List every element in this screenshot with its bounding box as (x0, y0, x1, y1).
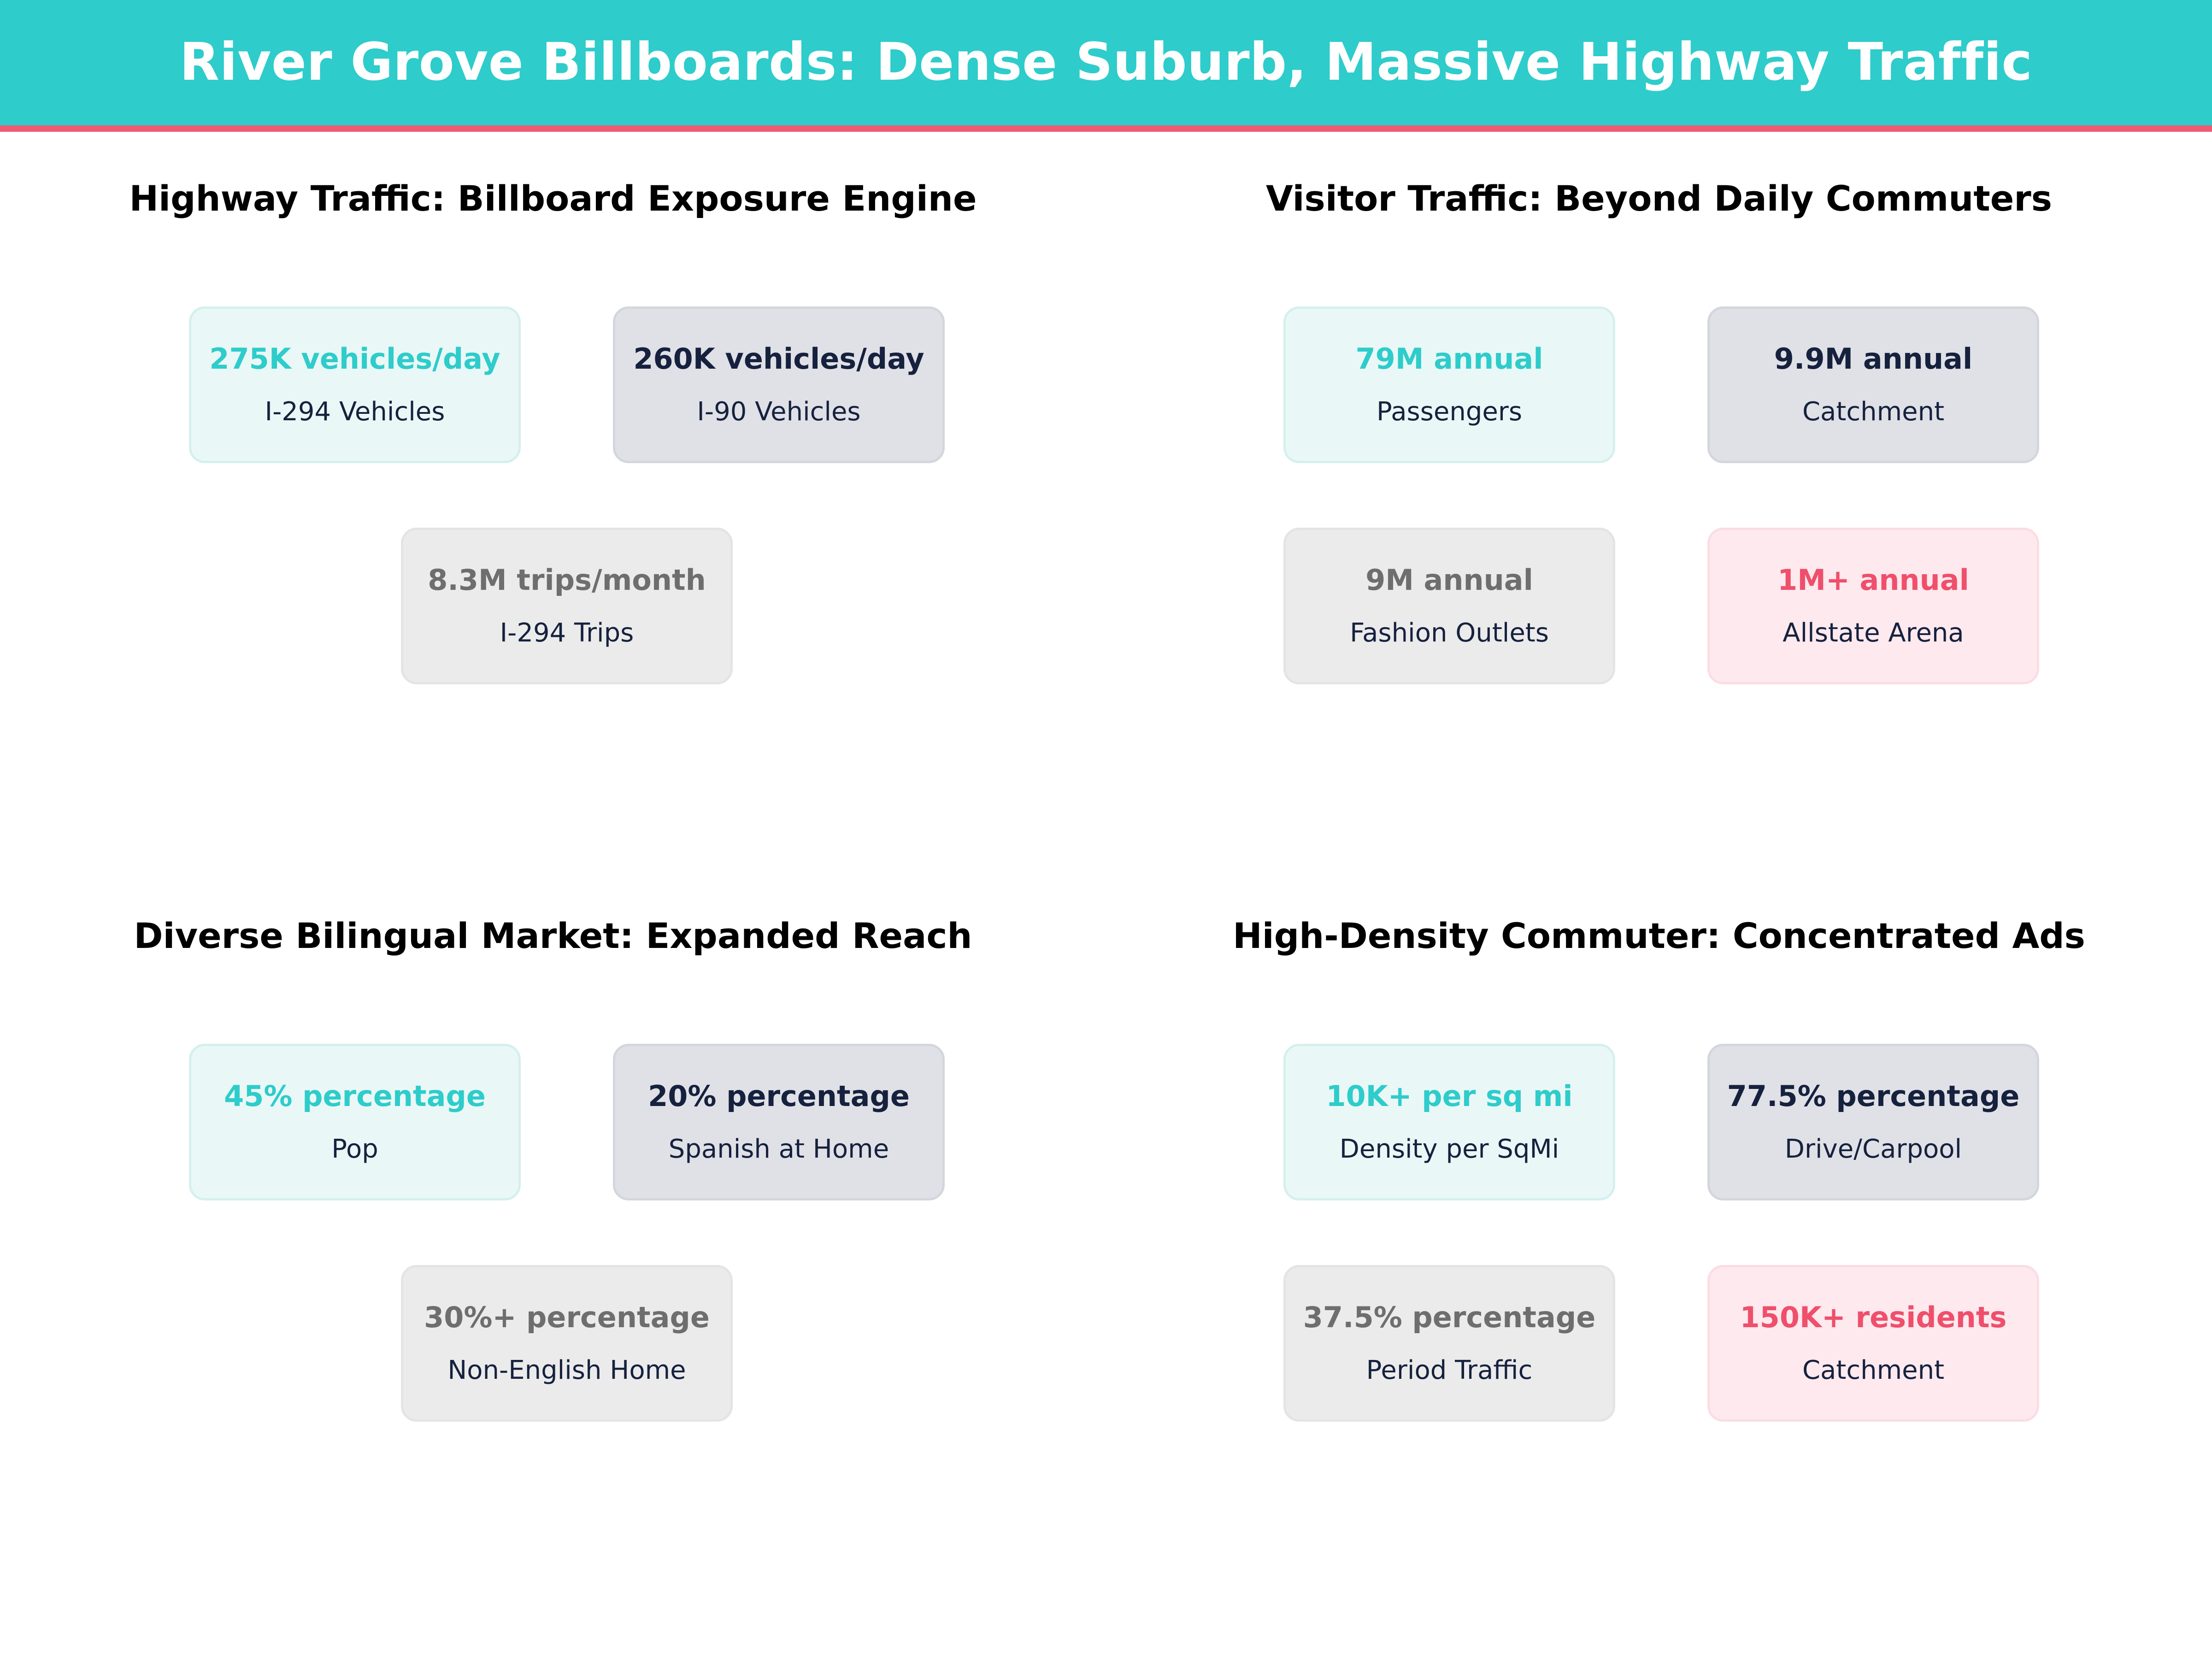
metric-card[interactable]: 79M annual Passengers (1283, 306, 1615, 463)
metric-card[interactable]: 260K vehicles/day I-90 Vehicles (613, 306, 945, 463)
metric-card[interactable]: 30%+ percentage Non-English Home (401, 1265, 733, 1422)
metric-label: Drive/Carpool (1785, 1135, 1962, 1164)
metric-label: Catchment (1802, 397, 1944, 427)
section-title-highway-traffic: Highway Traffic: Billboard Exposure Engi… (0, 178, 1106, 219)
sections-grid: Highway Traffic: Billboard Exposure Engi… (0, 132, 2212, 1659)
metric-label: Allstate Arena (1783, 618, 1964, 648)
metric-label: Non-English Home (447, 1356, 686, 1385)
metric-card[interactable]: 37.5% percentage Period Traffic (1283, 1265, 1615, 1422)
section-high-density-commuter: High-Density Commuter: Concentrated Ads … (1106, 915, 2212, 1659)
metric-card[interactable]: 1M+ annual Allstate Arena (1707, 528, 2039, 684)
section-highway-traffic: Highway Traffic: Billboard Exposure Engi… (0, 132, 1106, 915)
metric-value: 275K vehicles/day (209, 342, 500, 375)
metric-card[interactable]: 275K vehicles/day I-294 Vehicles (189, 306, 521, 463)
metric-value: 10K+ per sq mi (1326, 1080, 1572, 1112)
metric-card[interactable]: 9.9M annual Catchment (1707, 306, 2039, 463)
metric-label: Period Traffic (1366, 1356, 1533, 1385)
card-grid-high-density-commuter: 10K+ per sq mi Density per SqMi 77.5% pe… (1111, 1044, 2212, 1422)
metric-value: 150K+ residents (1740, 1301, 2007, 1334)
metric-card[interactable]: 10K+ per sq mi Density per SqMi (1283, 1044, 1615, 1200)
metric-card[interactable]: 9M annual Fashion Outlets (1283, 528, 1615, 684)
metric-value: 9M annual (1365, 564, 1533, 596)
metric-card[interactable]: 20% percentage Spanish at Home (613, 1044, 945, 1200)
section-title-bilingual-market: Diverse Bilingual Market: Expanded Reach (0, 915, 1106, 956)
page-title: River Grove Billboards: Dense Suburb, Ma… (180, 34, 2033, 91)
metric-label: Catchment (1802, 1356, 1944, 1385)
metric-value: 8.3M trips/month (428, 564, 706, 596)
metric-value: 30%+ percentage (424, 1301, 710, 1334)
section-title-high-density-commuter: High-Density Commuter: Concentrated Ads (1106, 915, 2212, 956)
metric-label: Density per SqMi (1340, 1135, 1559, 1164)
metric-label: Fashion Outlets (1350, 618, 1549, 648)
card-grid-visitor-traffic: 79M annual Passengers 9.9M annual Catchm… (1111, 306, 2212, 684)
metric-value: 20% percentage (648, 1080, 910, 1112)
metric-value: 9.9M annual (1774, 342, 1972, 375)
card-grid-bilingual-market: 45% percentage Pop 20% percentage Spanis… (28, 1044, 1106, 1422)
metric-label: I-294 Trips (500, 618, 634, 648)
metric-value: 77.5% percentage (1727, 1080, 2020, 1112)
page-header: River Grove Billboards: Dense Suburb, Ma… (0, 0, 2212, 125)
metric-value: 45% percentage (224, 1080, 486, 1112)
section-bilingual-market: Diverse Bilingual Market: Expanded Reach… (0, 915, 1106, 1659)
header-accent-rule (0, 125, 2212, 132)
section-title-visitor-traffic: Visitor Traffic: Beyond Daily Commuters (1106, 178, 2212, 219)
metric-label: I-294 Vehicles (265, 397, 445, 427)
metric-value: 1M+ annual (1777, 564, 1969, 596)
metric-card[interactable]: 77.5% percentage Drive/Carpool (1707, 1044, 2039, 1200)
metric-card[interactable]: 8.3M trips/month I-294 Trips (401, 528, 733, 684)
metric-value: 260K vehicles/day (633, 342, 924, 375)
metric-card[interactable]: 45% percentage Pop (189, 1044, 521, 1200)
metric-value: 37.5% percentage (1303, 1301, 1596, 1334)
metric-label: Pop (331, 1135, 378, 1164)
metric-label: Spanish at Home (669, 1135, 889, 1164)
section-visitor-traffic: Visitor Traffic: Beyond Daily Commuters … (1106, 132, 2212, 915)
metric-value: 79M annual (1356, 342, 1543, 375)
card-grid-highway-traffic: 275K vehicles/day I-294 Vehicles 260K ve… (28, 306, 1106, 684)
metric-label: Passengers (1377, 397, 1522, 427)
metric-card[interactable]: 150K+ residents Catchment (1707, 1265, 2039, 1422)
metric-label: I-90 Vehicles (697, 397, 860, 427)
